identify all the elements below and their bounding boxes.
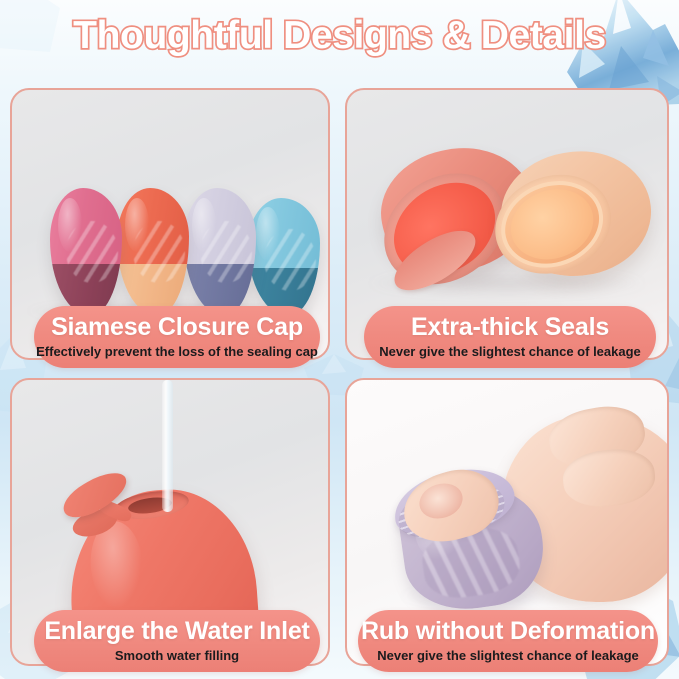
caption-title: Enlarge the Water Inlet (44, 619, 309, 645)
caption-title: Extra-thick Seals (411, 315, 609, 341)
bottle-cap-blue (248, 198, 320, 316)
caption-title: Siamese Closure Cap (51, 315, 303, 341)
water-stream (162, 380, 173, 512)
caption-subtitle: Smooth water filling (115, 649, 239, 663)
page-title: Thoughtful Designs & Details (0, 14, 679, 58)
cap-highlight (58, 198, 82, 252)
bottle-cap-pink (50, 188, 122, 316)
bottle-cap-coral (117, 188, 189, 316)
cap-highlight (192, 198, 216, 252)
silicone-cup-peach (485, 144, 664, 300)
cap-highlight (125, 198, 149, 252)
caption-enlarge-water-inlet: Enlarge the Water Inlet Smooth water fil… (34, 610, 320, 672)
caption-subtitle: Never give the slightest chance of leaka… (379, 345, 641, 359)
caption-extra-thick-seals: Extra-thick Seals Never give the slighte… (364, 306, 656, 368)
caption-subtitle: Effectively prevent the loss of the seal… (36, 345, 318, 359)
caption-rub-without-deformation: Rub without Deformation Never give the s… (358, 610, 658, 672)
caption-title: Rub without Deformation (361, 619, 655, 645)
bottle-cap-lavender (184, 188, 256, 316)
caption-subtitle: Never give the slightest chance of leaka… (377, 649, 639, 663)
caption-siamese-closure-cap: Siamese Closure Cap Effectively prevent … (34, 306, 320, 368)
infographic-canvas: Thoughtful Designs & Details (0, 0, 679, 679)
